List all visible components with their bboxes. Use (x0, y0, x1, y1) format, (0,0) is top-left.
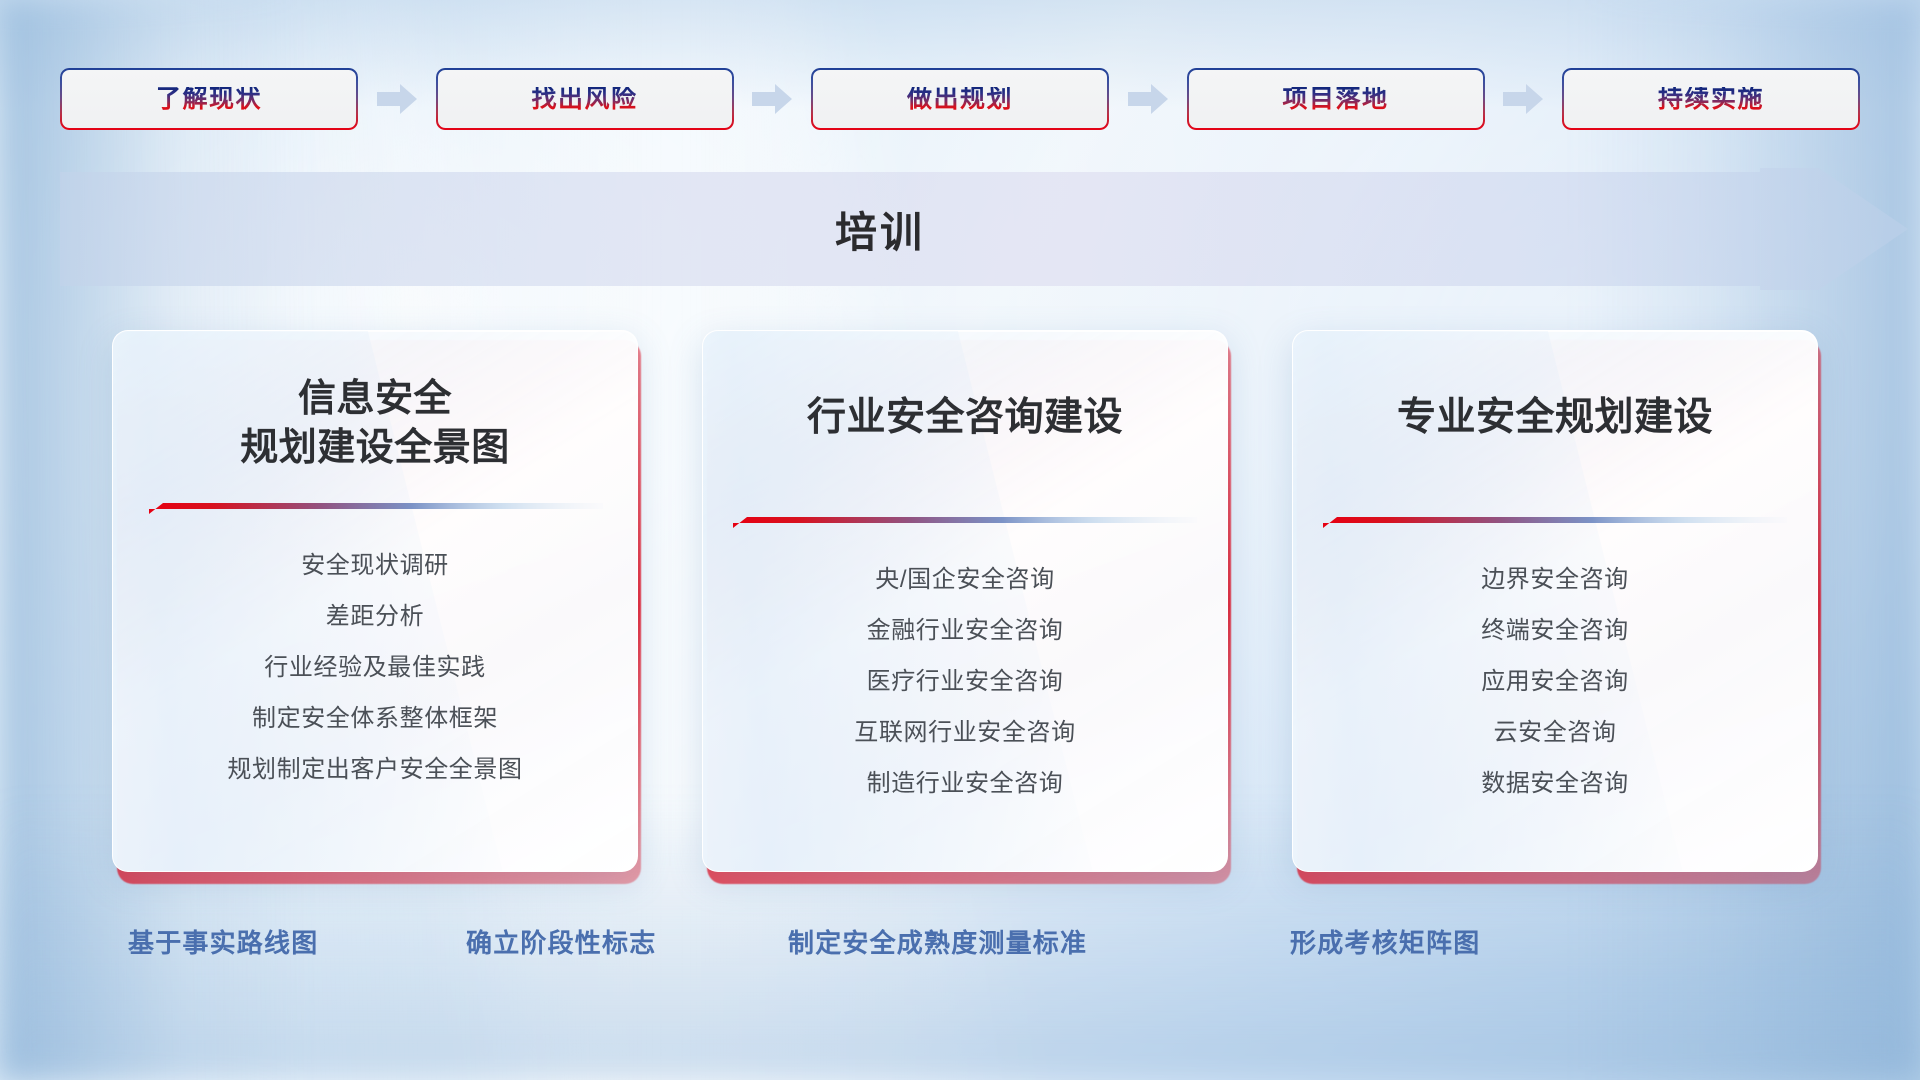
card-divider (113, 496, 637, 518)
step-label: 持续实施 (1658, 87, 1764, 112)
card-item-list: 央/国企安全咨询 金融行业安全咨询 医疗行业安全咨询 互联网行业安全咨询 制造行… (703, 568, 1227, 823)
card-title-line: 专业安全规划建设 (1293, 393, 1817, 444)
step-box-4[interactable]: 项目落地 (1187, 68, 1485, 130)
footnote-label: 制定安全成熟度测量标准 (788, 920, 1087, 966)
list-item: 制定安全体系整体框架 (252, 707, 498, 731)
step-label: 了解现状 (156, 87, 262, 112)
card-title-line: 规划建设全景图 (113, 424, 637, 473)
card-information-security-blueprint[interactable]: 信息安全 规划建设全景图 (112, 330, 642, 878)
list-item: 云安全咨询 (1494, 721, 1617, 745)
list-item: 制造行业安全咨询 (867, 772, 1064, 796)
card-divider (703, 510, 1227, 532)
card-body: 专业安全规划建设 (1292, 330, 1818, 872)
list-item: 规划制定出客户安全全景图 (227, 758, 522, 782)
list-item: 终端安全咨询 (1481, 619, 1629, 643)
footnote-label: 确立阶段性标志 (466, 920, 656, 966)
cards-row: 信息安全 规划建设全景图 (112, 330, 1822, 880)
step-label: 做出规划 (907, 87, 1013, 112)
step-label: 找出风险 (531, 87, 637, 112)
footnote-row: 基于事实路线图 确立阶段性标志 制定安全成熟度测量标准 形成考核矩阵图 (0, 920, 1920, 966)
list-item: 金融行业安全咨询 (867, 619, 1064, 643)
card-title-line: 行业安全咨询建设 (703, 393, 1227, 444)
card-body: 信息安全 规划建设全景图 (112, 330, 638, 872)
arrow-right-icon (1128, 82, 1168, 116)
training-band-label: 培训 (60, 168, 1700, 290)
card-title: 信息安全 规划建设全景图 (113, 375, 637, 474)
training-band: 培训 (60, 168, 1908, 290)
step-box-2[interactable]: 找出风险 (436, 68, 734, 130)
list-item: 数据安全咨询 (1481, 772, 1629, 796)
card-professional-security-planning[interactable]: 专业安全规划建设 (1292, 330, 1822, 878)
step-box-3[interactable]: 做出规划 (811, 68, 1109, 130)
card-title: 行业安全咨询建设 (703, 393, 1227, 444)
list-item: 央/国企安全咨询 (875, 568, 1054, 592)
list-item: 安全现状调研 (301, 554, 449, 578)
card-item-list: 安全现状调研 差距分析 行业经验及最佳实践 制定安全体系整体框架 规划制定出客户… (113, 554, 637, 809)
arrow-right-icon (752, 82, 792, 116)
card-item-list: 边界安全咨询 终端安全咨询 应用安全咨询 云安全咨询 数据安全咨询 (1293, 568, 1817, 823)
step-label: 项目落地 (1282, 87, 1388, 112)
arrow-right-icon (377, 82, 417, 116)
list-item: 医疗行业安全咨询 (867, 670, 1064, 694)
list-item: 差距分析 (326, 605, 424, 629)
process-steps: 了解现状 找出风险 做出规划 项目落地 持续实施 (60, 68, 1860, 130)
card-industry-security-consulting[interactable]: 行业安全咨询建设 (702, 330, 1232, 878)
footnote-label: 基于事实路线图 (128, 920, 318, 966)
step-box-1[interactable]: 了解现状 (60, 68, 358, 130)
card-title-line: 信息安全 (113, 375, 637, 424)
card-divider (1293, 510, 1817, 532)
step-box-5[interactable]: 持续实施 (1562, 68, 1860, 130)
list-item: 应用安全咨询 (1481, 670, 1629, 694)
card-title: 专业安全规划建设 (1293, 393, 1817, 444)
list-item: 边界安全咨询 (1481, 568, 1629, 592)
card-body: 行业安全咨询建设 (702, 330, 1228, 872)
arrow-right-icon (1503, 82, 1543, 116)
footnote-label: 形成考核矩阵图 (1290, 920, 1480, 966)
list-item: 行业经验及最佳实践 (264, 656, 485, 680)
list-item: 互联网行业安全咨询 (854, 721, 1075, 745)
